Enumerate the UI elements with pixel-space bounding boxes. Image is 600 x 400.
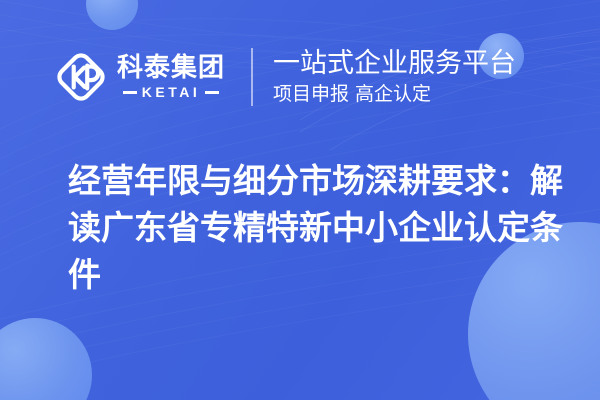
ketai-kp-monogram-icon [55,51,107,103]
tagline-primary: 一站式企业服务平台 [273,48,516,80]
header-divider [251,48,253,106]
brand-name-en: KETAI [142,85,200,99]
page-title: 经营年限与细分市场深耕要求：解读广东省专精特新中小企业认定条件 [68,158,573,299]
promo-banner: 科泰集团 KETAI 一站式企业服务平台 项目申报 高企认定 经营年限与细分市场… [0,0,600,400]
tagline-secondary: 项目申报 高企认定 [273,82,516,107]
brand-wordmark: 科泰集团 KETAI [117,55,225,99]
dash-left-icon [123,91,137,94]
brand-name-cn: 科泰集团 [117,55,225,82]
dash-right-icon [205,91,219,94]
banner-header: 科泰集团 KETAI 一站式企业服务平台 项目申报 高企认定 [0,38,600,116]
brand-name-en-row: KETAI [123,85,219,99]
header-tagline: 一站式企业服务平台 项目申报 高企认定 [273,48,516,107]
brand-logo[interactable]: 科泰集团 KETAI [55,51,225,103]
